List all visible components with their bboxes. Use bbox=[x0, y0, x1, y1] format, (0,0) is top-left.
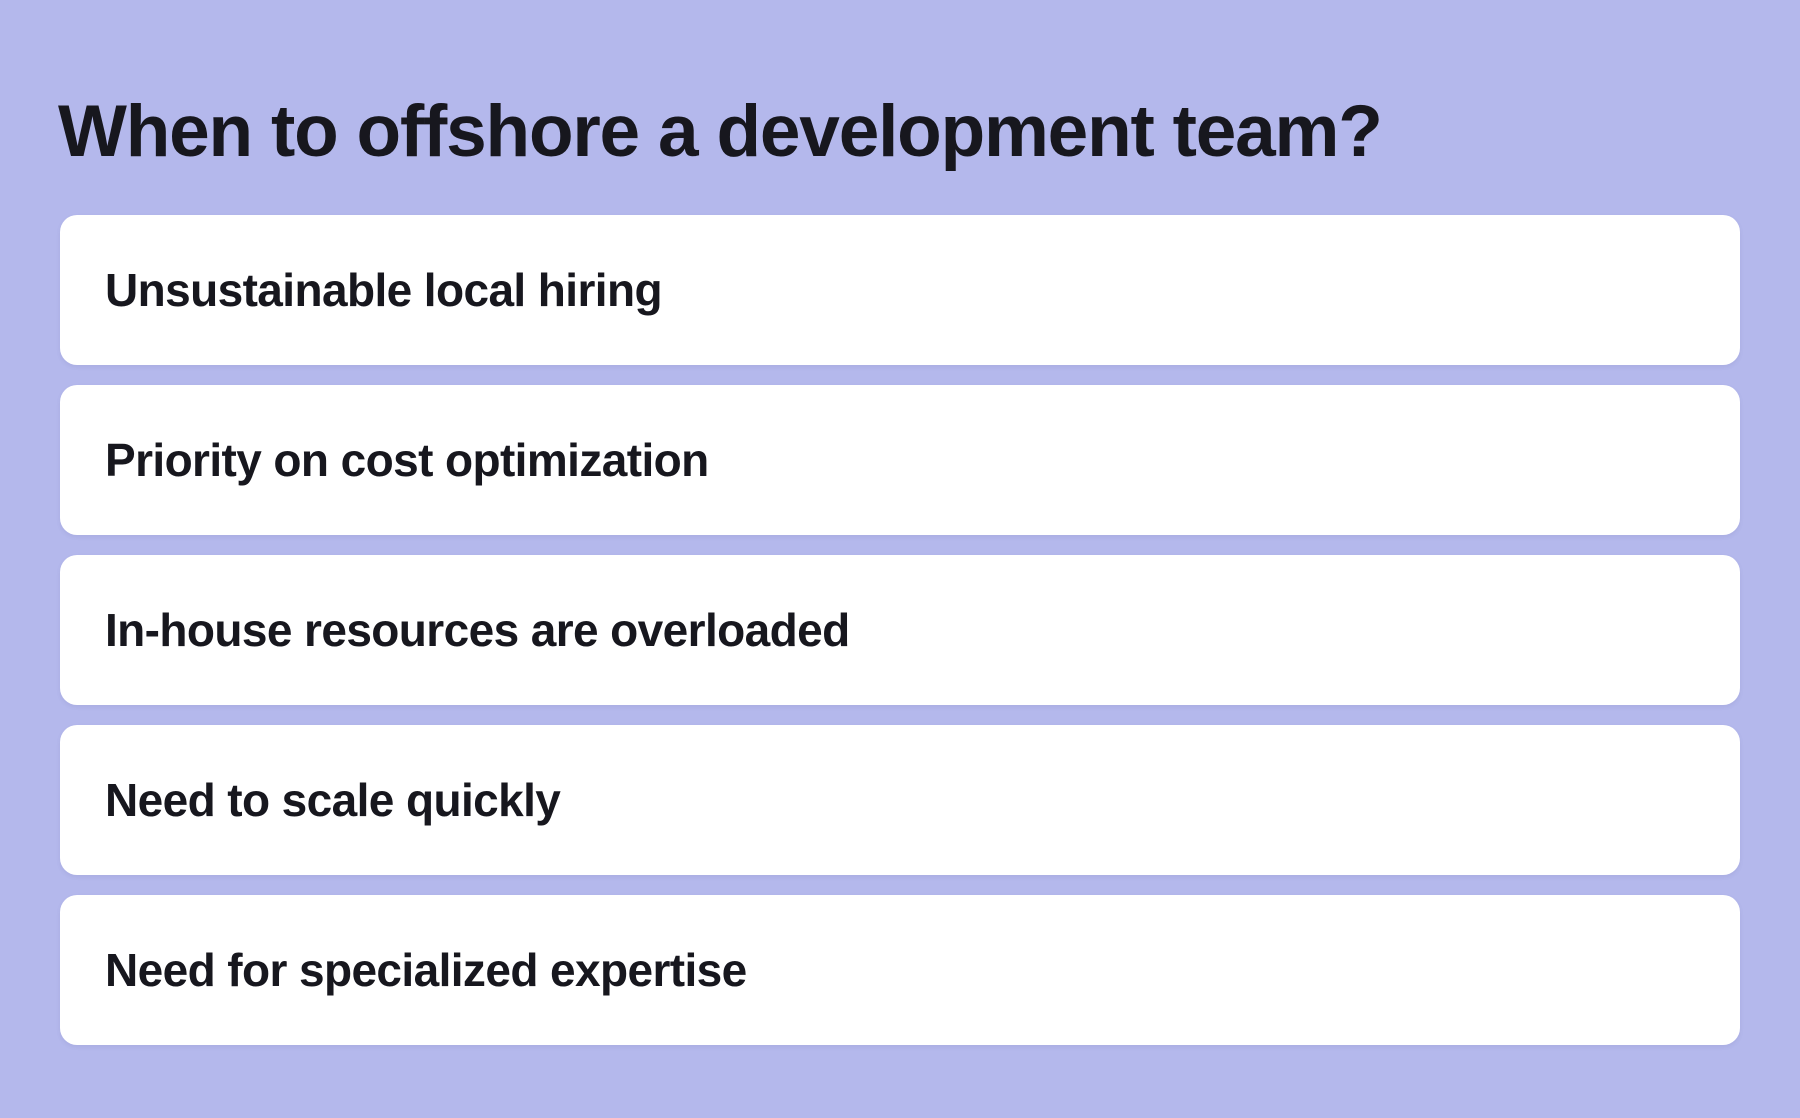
list-item-label: Unsustainable local hiring bbox=[105, 265, 662, 316]
list-item[interactable]: Priority on cost optimization bbox=[60, 385, 1740, 535]
list-item-label: Need to scale quickly bbox=[105, 775, 560, 826]
page-title: When to offshore a development team? bbox=[58, 95, 1748, 168]
slide-root: When to offshore a development team? Uns… bbox=[0, 0, 1800, 1118]
reason-card-list: Unsustainable local hiring Priority on c… bbox=[60, 215, 1740, 1045]
list-item[interactable]: Unsustainable local hiring bbox=[60, 215, 1740, 365]
list-item[interactable]: Need for specialized expertise bbox=[60, 895, 1740, 1045]
list-item-label: In-house resources are overloaded bbox=[105, 605, 850, 656]
list-item-label: Need for specialized expertise bbox=[105, 945, 747, 996]
list-item[interactable]: In-house resources are overloaded bbox=[60, 555, 1740, 705]
list-item-label: Priority on cost optimization bbox=[105, 435, 709, 486]
list-item[interactable]: Need to scale quickly bbox=[60, 725, 1740, 875]
